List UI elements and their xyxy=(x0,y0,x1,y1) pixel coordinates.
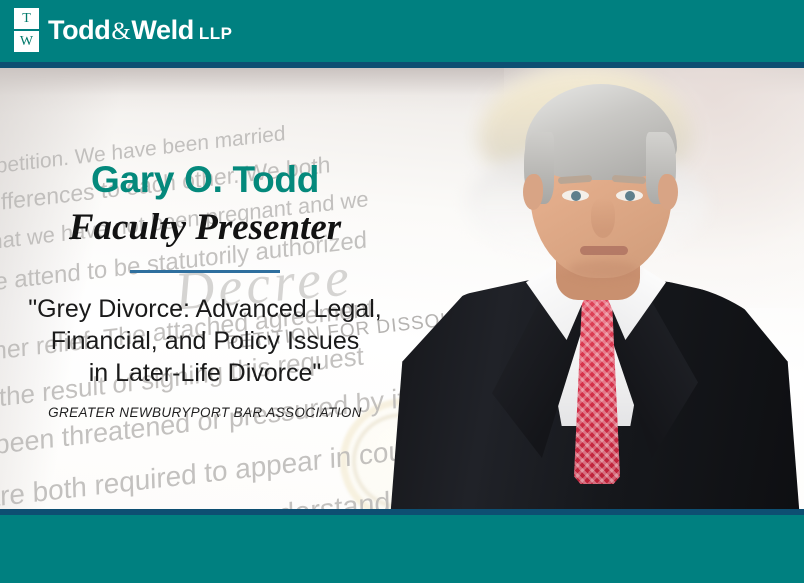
chin-shadow xyxy=(568,260,638,280)
talk-title: "Grey Divorce: Advanced Legal, Financial… xyxy=(14,293,396,389)
logo-square-t: T xyxy=(14,8,39,29)
presenter-portrait-photo xyxy=(380,70,800,515)
todd-and-weld-logo[interactable]: T W Todd & Weld LLP xyxy=(14,8,232,52)
presenter-announcement-slide: this petition. We have been married and … xyxy=(0,0,804,583)
logo-square-w: W xyxy=(14,31,39,52)
ear-left xyxy=(523,174,543,210)
organization-name: GREATER NEWBURYPORT BAR ASSOCIATION xyxy=(0,405,410,420)
ear-right xyxy=(658,174,678,210)
divider-rule xyxy=(130,270,280,273)
logo-monogram-icon: T W xyxy=(14,8,39,52)
logo-ampersand: & xyxy=(110,18,131,46)
talk-title-line-3: in Later-Life Divorce" xyxy=(14,357,396,389)
logo-word-weld: Weld xyxy=(131,15,193,46)
footer-bar xyxy=(0,509,804,583)
nose xyxy=(591,198,615,238)
mouth xyxy=(580,246,628,255)
logo-word-todd: Todd xyxy=(48,15,110,46)
iris-left xyxy=(571,191,581,201)
presenter-text-block: Gary O. Todd Faculty Presenter "Grey Div… xyxy=(0,160,410,420)
iris-right xyxy=(625,191,635,201)
presenter-role: Faculty Presenter xyxy=(0,207,410,248)
talk-title-line-2: Financial, and Policy Issues xyxy=(14,325,396,357)
talk-title-line-1: "Grey Divorce: Advanced Legal, xyxy=(14,293,396,325)
brand-header-bar: T W Todd & Weld LLP xyxy=(0,0,804,68)
logo-wordmark: Todd & Weld LLP xyxy=(48,15,232,46)
presenter-name: Gary O. Todd xyxy=(0,160,410,201)
logo-suffix-llp: LLP xyxy=(199,24,233,44)
